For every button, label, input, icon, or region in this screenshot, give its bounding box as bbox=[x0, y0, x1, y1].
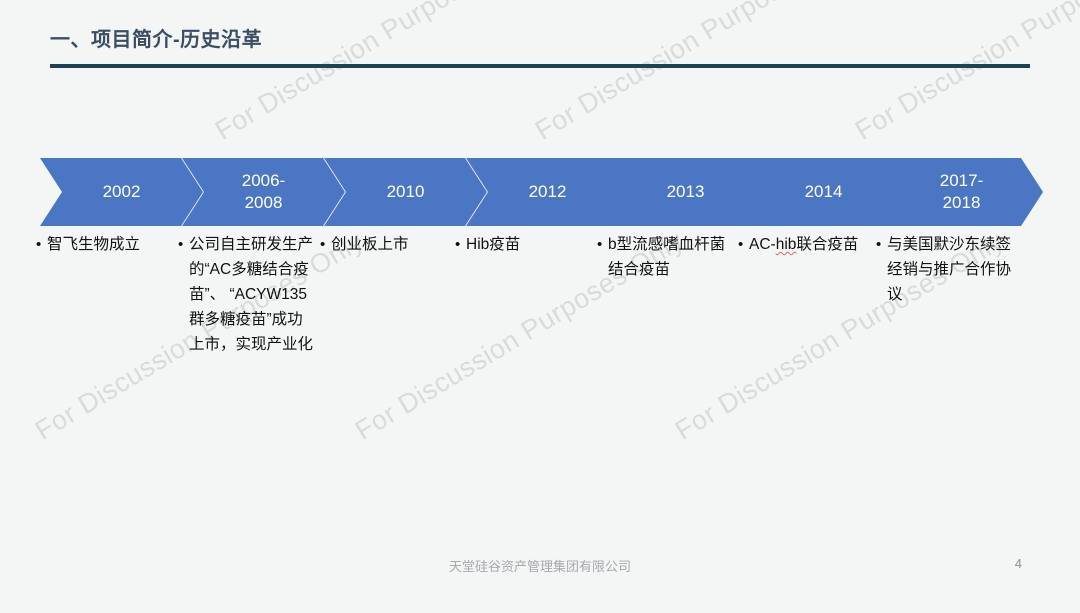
timeline-detail-3: • Hib疫苗 bbox=[455, 232, 591, 257]
page-title: 一、项目简介-历史沿革 bbox=[50, 26, 1030, 54]
timeline-year-1: 2006-2008 bbox=[238, 170, 289, 214]
list-item: • 与美国默沙东续签经销与推广合作协议 bbox=[876, 232, 1016, 307]
timeline-chevron-0[interactable]: 2002 bbox=[40, 158, 203, 226]
list-item: • 公司自主研发生产的“AC多糖结合疫苗”、 “ACYW135群多糖疫苗”成功上… bbox=[178, 232, 318, 357]
bullet-icon: • bbox=[178, 232, 189, 257]
timeline-chevron-5[interactable]: 2014 bbox=[742, 158, 905, 226]
bullet-icon: • bbox=[455, 232, 466, 257]
timeline-detail-0: • 智飞生物成立 bbox=[36, 232, 186, 257]
slide: For Discussion Purposes Only For Discuss… bbox=[0, 0, 1080, 613]
timeline-detail-text-1: 公司自主研发生产的“AC多糖结合疫苗”、 “ACYW135群多糖疫苗”成功上市，… bbox=[189, 232, 318, 357]
timeline-detail-4: • b型流感嗜血杆菌结合疫苗 bbox=[597, 232, 733, 282]
watermark-text: For Discussion Purposes Only bbox=[850, 0, 1080, 147]
page-number: 4 bbox=[1015, 556, 1022, 571]
title-divider bbox=[50, 64, 1030, 68]
spellcheck-underline: hib bbox=[776, 236, 797, 253]
timeline-chevrons: 2002 2006-2008 2010 2012 2013 2014 2017-… bbox=[0, 158, 1080, 226]
timeline-chevron-2[interactable]: 2010 bbox=[324, 158, 487, 226]
timeline-year-0: 2002 bbox=[99, 181, 145, 203]
list-item: • 智飞生物成立 bbox=[36, 232, 186, 257]
bullet-icon: • bbox=[597, 232, 608, 257]
bullet-icon: • bbox=[876, 232, 887, 257]
timeline-chevron-1[interactable]: 2006-2008 bbox=[182, 158, 345, 226]
bullet-icon: • bbox=[738, 232, 749, 257]
timeline-detail-text-4: b型流感嗜血杆菌结合疫苗 bbox=[608, 232, 733, 282]
timeline-year-5: 2014 bbox=[801, 181, 847, 203]
watermark-text: For Discussion Purposes Only bbox=[530, 0, 869, 147]
timeline-detail-5: • AC-hib联合疫苗 bbox=[738, 232, 874, 257]
timeline-chevron-3[interactable]: 2012 bbox=[466, 158, 629, 226]
timeline-detail-text-0: 智飞生物成立 bbox=[47, 232, 186, 257]
timeline-detail-6: • 与美国默沙东续签经销与推广合作协议 bbox=[876, 232, 1016, 307]
timeline-year-4: 2013 bbox=[663, 181, 709, 203]
timeline-year-3: 2012 bbox=[525, 181, 571, 203]
footer: 天堂硅谷资产管理集团有限公司 bbox=[0, 556, 1080, 575]
timeline-year-2: 2010 bbox=[383, 181, 429, 203]
timeline-detail-text-6: 与美国默沙东续签经销与推广合作协议 bbox=[887, 232, 1016, 307]
list-item: • AC-hib联合疫苗 bbox=[738, 232, 874, 257]
timeline-chevron-6[interactable]: 2017-2018 bbox=[880, 158, 1043, 226]
timeline-chevron-4[interactable]: 2013 bbox=[604, 158, 767, 226]
timeline-detail-text-3: Hib疫苗 bbox=[466, 232, 591, 257]
list-item: • Hib疫苗 bbox=[455, 232, 591, 257]
page-title-text: 一、项目简介-历史沿革 bbox=[50, 26, 1030, 54]
timeline-detail-text-5: AC-hib联合疫苗 bbox=[749, 232, 874, 257]
list-item: • 创业板上市 bbox=[320, 232, 456, 257]
bullet-icon: • bbox=[320, 232, 331, 257]
bullet-icon: • bbox=[36, 232, 47, 257]
watermark-text: For Discussion Purposes Only bbox=[210, 0, 549, 147]
timeline-detail-1: • 公司自主研发生产的“AC多糖结合疫苗”、 “ACYW135群多糖疫苗”成功上… bbox=[178, 232, 318, 357]
list-item: • b型流感嗜血杆菌结合疫苗 bbox=[597, 232, 733, 282]
timeline-year-6: 2017-2018 bbox=[936, 170, 987, 214]
timeline-detail-text-2: 创业板上市 bbox=[331, 232, 456, 257]
timeline-detail-2: • 创业板上市 bbox=[320, 232, 456, 257]
